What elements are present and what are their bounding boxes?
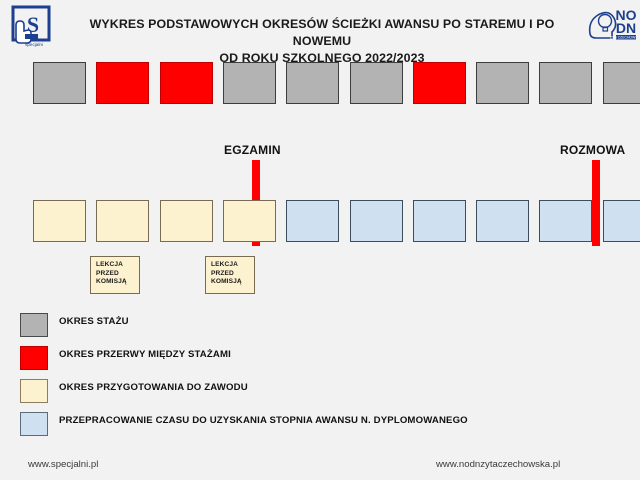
footer-url-right[interactable]: www.nodnzytaczechowska.pl bbox=[436, 459, 560, 470]
legend-swatch-cream bbox=[20, 379, 48, 403]
legend: OKRES STAŻUOKRES PRZERWY MIĘDZY STAŻAMIO… bbox=[20, 312, 630, 444]
new-path-cell-6-blue bbox=[350, 200, 403, 242]
old-path-cell-3-red bbox=[160, 62, 213, 104]
note-lekcja-przed-komisja-2: LEKCJA PRZED KOMISJĄ bbox=[205, 256, 255, 294]
new-path-cell-8-blue bbox=[476, 200, 529, 242]
legend-label-1: OKRES STAŻU bbox=[59, 316, 129, 327]
old-path-cell-9-gray bbox=[539, 62, 592, 104]
note-2-line-3: KOMISJĄ bbox=[211, 278, 254, 287]
svg-text:specjalni: specjalni bbox=[25, 42, 43, 47]
title-line-1: WYKRES PODSTAWOWYCH OKRESÓW ŚCIEŻKI AWAN… bbox=[62, 16, 582, 50]
svg-text:ŻYŃ CZECHOWSKA: ŻYŃ CZECHOWSKA bbox=[610, 34, 636, 39]
legend-label-3: OKRES PRZYGOTOWANIA DO ZAWODU bbox=[59, 382, 248, 393]
note-1-line-2: PRZED bbox=[96, 270, 139, 279]
note-2-line-1: LEKCJA bbox=[211, 261, 254, 270]
marker-label-egzamin: EGZAMIN bbox=[224, 143, 281, 157]
timeline-row-old-path bbox=[33, 62, 640, 104]
old-path-cell-6-gray bbox=[350, 62, 403, 104]
legend-item-3: OKRES PRZYGOTOWANIA DO ZAWODU bbox=[20, 378, 630, 411]
old-path-cell-8-gray bbox=[476, 62, 529, 104]
legend-item-1: OKRES STAŻU bbox=[20, 312, 630, 345]
legend-label-4: PRZEPRACOWANIE CZASU DO UZYSKANIA STOPNI… bbox=[59, 415, 468, 426]
new-path-cell-5-blue bbox=[286, 200, 339, 242]
legend-item-2: OKRES PRZERWY MIĘDZY STAŻAMI bbox=[20, 345, 630, 378]
legend-swatch-blue bbox=[20, 412, 48, 436]
footer-url-left[interactable]: www.specjalni.pl bbox=[28, 459, 98, 470]
new-path-cell-2-cream bbox=[96, 200, 149, 242]
legend-swatch-gray bbox=[20, 313, 48, 337]
note-2-line-2: PRZED bbox=[211, 270, 254, 279]
legend-swatch-red bbox=[20, 346, 48, 370]
note-1-line-3: KOMISJĄ bbox=[96, 278, 139, 287]
note-1-line-1: LEKCJA bbox=[96, 261, 139, 270]
slide-canvas: S specjalni NO DN ŻYŃ CZECHOWSKA WYKRES … bbox=[0, 0, 640, 480]
svg-text:DN: DN bbox=[616, 20, 636, 36]
new-path-cell-9-blue bbox=[539, 200, 592, 242]
new-path-cell-1-cream bbox=[33, 200, 86, 242]
old-path-cell-1-gray bbox=[33, 62, 86, 104]
specjalni-logo: S specjalni bbox=[6, 3, 58, 49]
nodn-logo: NO DN ŻYŃ CZECHOWSKA bbox=[586, 4, 636, 48]
legend-label-2: OKRES PRZERWY MIĘDZY STAŻAMI bbox=[59, 349, 231, 360]
marker-label-rozmowa: ROZMOWA bbox=[560, 143, 625, 157]
old-path-cell-7-red bbox=[413, 62, 466, 104]
legend-item-4: PRZEPRACOWANIE CZASU DO UZYSKANIA STOPNI… bbox=[20, 411, 630, 444]
old-path-cell-5-gray bbox=[286, 62, 339, 104]
new-path-cell-3-cream bbox=[160, 200, 213, 242]
old-path-cell-2-red bbox=[96, 62, 149, 104]
old-path-cell-4-gray bbox=[223, 62, 276, 104]
new-path-cell-4-cream bbox=[223, 200, 276, 242]
new-path-cell-10-blue bbox=[603, 200, 640, 242]
new-path-cell-7-blue bbox=[413, 200, 466, 242]
old-path-cell-10-gray bbox=[603, 62, 640, 104]
page-title: WYKRES PODSTAWOWYCH OKRESÓW ŚCIEŻKI AWAN… bbox=[62, 16, 582, 67]
note-lekcja-przed-komisja-1: LEKCJA PRZED KOMISJĄ bbox=[90, 256, 140, 294]
timeline-row-new-path bbox=[33, 200, 640, 242]
